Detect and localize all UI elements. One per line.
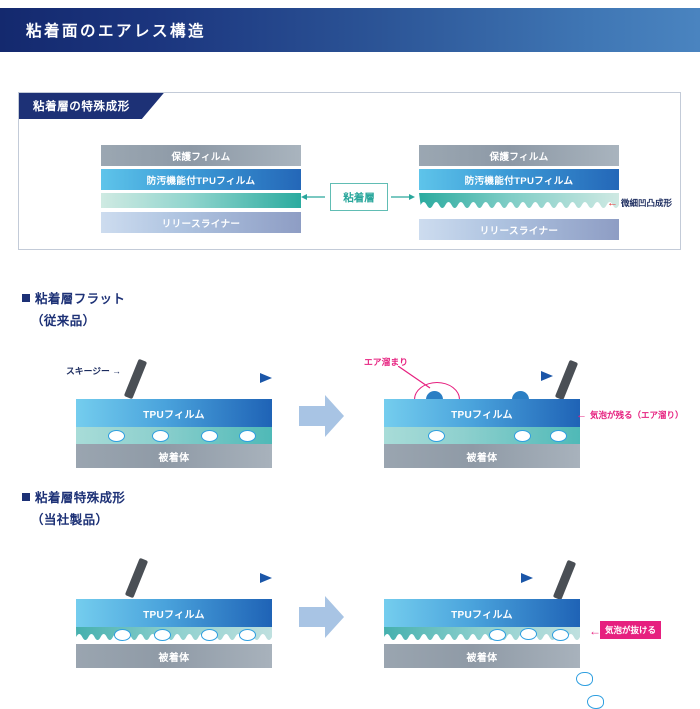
substrate-band: 被着体 <box>384 644 580 668</box>
process-arrow-icon <box>299 395 344 437</box>
card-tab-label: 粘着層の特殊成形 <box>33 98 130 114</box>
bullet-square-icon <box>22 493 30 501</box>
substrate-band: 被着体 <box>76 644 272 668</box>
section-textured-subheading: （当社製品） <box>31 509 108 528</box>
direction-arrow-icon <box>157 372 272 384</box>
section-flat-heading: 粘着層フラット <box>22 288 125 307</box>
tpu-film-band: TPUフィルム <box>76 599 272 627</box>
layer-protective-film: 保護フィルム <box>101 145 301 166</box>
micro-texture-label: 微細凹凸成形 <box>621 197 672 209</box>
arrow-left-magenta-icon: ← <box>576 410 587 421</box>
air-bubble <box>550 430 567 442</box>
panel-flat-before: スキージー → TPUフィルム 被着体 <box>62 352 312 472</box>
left-layer-stack: 保護フィルム 防汚機能付TPUフィルム リリースライナー <box>101 145 301 233</box>
squeegee-label: スキージー → <box>66 364 121 377</box>
page-title: 粘着面のエアレス構造 <box>26 19 206 41</box>
tpu-film-band: TPUフィルム <box>384 599 580 627</box>
air-bubble <box>108 430 125 442</box>
direction-arrow-icon <box>418 572 533 584</box>
escaping-bubble-annotation: 気泡が抜ける <box>600 621 661 639</box>
adhesive-layer-callout: 粘着層 <box>330 183 388 211</box>
process-arrow-icon <box>299 596 344 638</box>
air-bubble <box>552 629 569 641</box>
direction-arrow-icon <box>438 370 553 382</box>
substrate-band: 被着体 <box>384 444 580 468</box>
arrow-left-red-icon: ← <box>607 198 618 209</box>
squeegee-icon <box>555 360 578 400</box>
air-bubble <box>489 629 506 641</box>
layer-tpu-film: 防汚機能付TPUフィルム <box>419 169 619 190</box>
tpu-film-band: TPUフィルム <box>384 399 580 427</box>
bullet-square-icon <box>22 294 30 302</box>
arrow-left-icon <box>301 192 325 202</box>
trapped-bubble-label: 気泡が残る（エア溜り） <box>590 409 684 421</box>
card-tab: 粘着層の特殊成形 <box>19 93 164 119</box>
squeegee-icon <box>125 558 148 598</box>
section-flat-heading-label: 粘着層フラット <box>35 292 125 306</box>
layer-adhesive-flat <box>101 193 301 208</box>
air-bubble <box>239 430 256 442</box>
escaping-bubble <box>576 672 593 686</box>
layer-tpu-film: 防汚機能付TPUフィルム <box>101 169 301 190</box>
air-bubble <box>201 629 218 641</box>
section-textured-heading: 粘着層特殊成形 <box>22 487 125 506</box>
tpu-film-band: TPUフィルム <box>76 399 272 427</box>
trapped-bubble-annotation: ← 気泡が残る（エア溜り） <box>576 409 684 421</box>
adhesive-layer-callout-label: 粘着層 <box>343 190 375 205</box>
air-bubble <box>514 430 531 442</box>
section-textured-heading-label: 粘着層特殊成形 <box>35 491 125 505</box>
layer-release-liner: リリースライナー <box>101 212 301 233</box>
direction-arrow-icon <box>157 572 272 584</box>
air-bubble <box>239 629 256 641</box>
layer-release-liner: リリースライナー <box>419 219 619 240</box>
adhesive-band-textured <box>384 627 580 644</box>
wavy-adhesive-shape <box>384 627 580 644</box>
air-bubble <box>428 430 445 442</box>
wavy-adhesive-shape <box>419 193 619 215</box>
panel-textured-before: TPUフィルム 被着体 <box>62 552 312 672</box>
layer-structure-card: 粘着層の特殊成形 保護フィルム 防汚機能付TPUフィルム リリースライナー 保護… <box>18 92 681 250</box>
substrate-band: 被着体 <box>76 444 272 468</box>
layer-protective-film: 保護フィルム <box>419 145 619 166</box>
air-bubble <box>114 629 131 641</box>
diagram-page: 粘着面のエアレス構造 粘着層の特殊成形 保護フィルム 防汚機能付TPUフィルム … <box>0 0 700 700</box>
air-bubble <box>201 430 218 442</box>
squeegee-icon <box>124 359 147 399</box>
section-flat-subheading: （従来品） <box>31 310 96 329</box>
escaping-bubble <box>587 695 604 709</box>
air-bubble <box>152 430 169 442</box>
layer-adhesive-textured <box>419 193 619 215</box>
arrow-right-icon <box>391 192 415 202</box>
right-layer-stack: 保護フィルム 防汚機能付TPUフィルム リリースライナー <box>419 145 619 240</box>
air-bubble <box>154 629 171 641</box>
squeegee-icon <box>553 560 576 600</box>
micro-texture-annotation: ← 微細凹凸成形 <box>607 197 672 209</box>
page-header: 粘着面のエアレス構造 <box>0 8 700 52</box>
panel-textured-after: TPUフィルム 被着体 <box>370 552 620 672</box>
air-bubble <box>520 628 537 640</box>
